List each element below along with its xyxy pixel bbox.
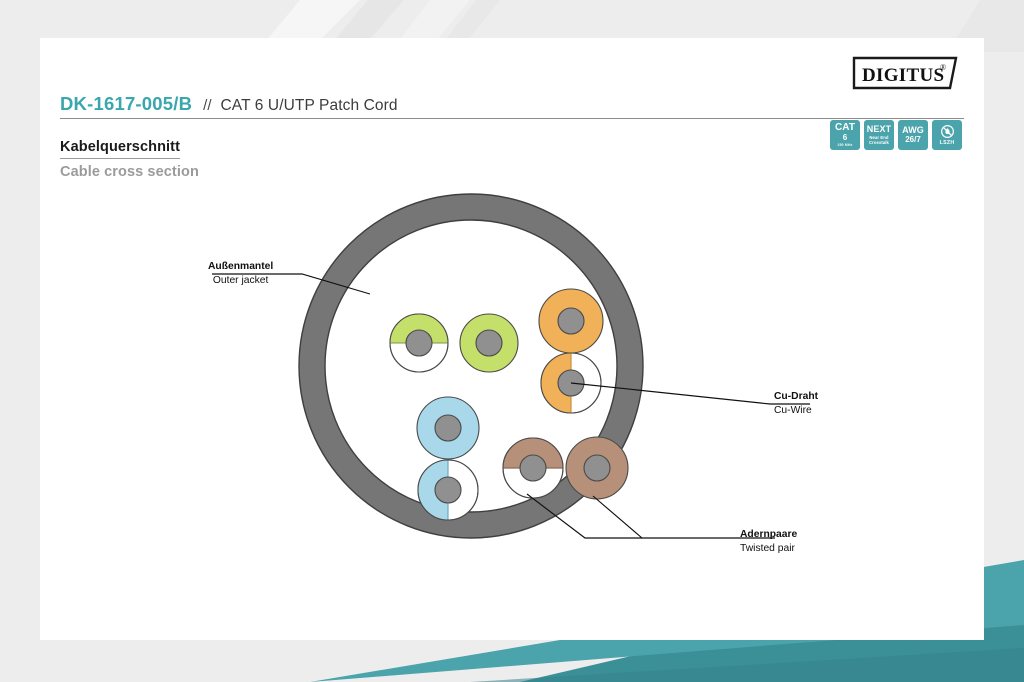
- callout-cu-wire: Cu-Draht Cu-Wire: [774, 390, 818, 418]
- content-card: DIGITUS ® DK-1617-005/B // CAT 6 U/UTP P…: [40, 38, 984, 640]
- cat6-badge: CAT 6 250 MHz: [830, 120, 860, 150]
- callout-twisted-pair: Adernpaare Twisted pair: [740, 528, 797, 556]
- next-badge-line1: NEXT: [867, 125, 891, 134]
- callout-outer-jacket: Außenmantel Outer jacket: [208, 260, 273, 288]
- product-sku: DK-1617-005/B: [60, 93, 192, 115]
- awg-badge-line1: AWG: [902, 126, 924, 135]
- callout-cu-wire-en: Cu-Wire: [774, 404, 818, 418]
- cat6-badge-line1: CAT: [835, 123, 855, 133]
- next-badge: NEXT Near End Crosstalk: [864, 120, 894, 150]
- title-row: DK-1617-005/B // CAT 6 U/UTP Patch Cord: [60, 93, 964, 115]
- no-flame-icon: [940, 124, 955, 139]
- next-badge-sub: Near End Crosstalk: [864, 135, 894, 146]
- cable-cross-section-diagram: [40, 166, 984, 606]
- title-divider: [60, 118, 964, 119]
- cat6-badge-line3: 250 MHz: [838, 144, 853, 147]
- callout-outer-jacket-en: Outer jacket: [208, 274, 273, 288]
- wire-blue-white: [418, 460, 478, 520]
- callout-twisted-pair-en: Twisted pair: [740, 542, 797, 556]
- digitus-logo: DIGITUS ®: [852, 56, 960, 90]
- cat6-badge-line2: 6: [843, 134, 847, 142]
- title-separator: //: [203, 97, 211, 114]
- section-title-de: Kabelquerschnitt: [60, 139, 180, 159]
- lszh-badge-label: LSZH: [940, 141, 955, 146]
- logo-registered-mark: ®: [940, 63, 946, 72]
- wire-brown-white: [503, 438, 563, 498]
- wire-green-white: [390, 314, 448, 372]
- lszh-badge: LSZH: [932, 120, 962, 150]
- wire-green-solid: [460, 314, 518, 372]
- callout-cu-wire-de: Cu-Draht: [774, 390, 818, 404]
- wire-orange-solid: [539, 289, 603, 353]
- logo-wordmark: DIGITUS: [862, 65, 944, 86]
- wire-brown-solid: [566, 437, 628, 499]
- product-name: CAT 6 U/UTP Patch Cord: [221, 97, 398, 115]
- wire-blue-solid: [417, 397, 479, 459]
- callout-outer-jacket-de: Außenmantel: [208, 260, 273, 274]
- awg-badge-line2: 26/7: [905, 136, 921, 144]
- awg-badge: AWG 26/7: [898, 120, 928, 150]
- certification-badges: CAT 6 250 MHz NEXT Near End Crosstalk AW…: [830, 120, 962, 150]
- leader-twisted-pair-b: [593, 496, 642, 538]
- callout-twisted-pair-de: Adernpaare: [740, 528, 797, 542]
